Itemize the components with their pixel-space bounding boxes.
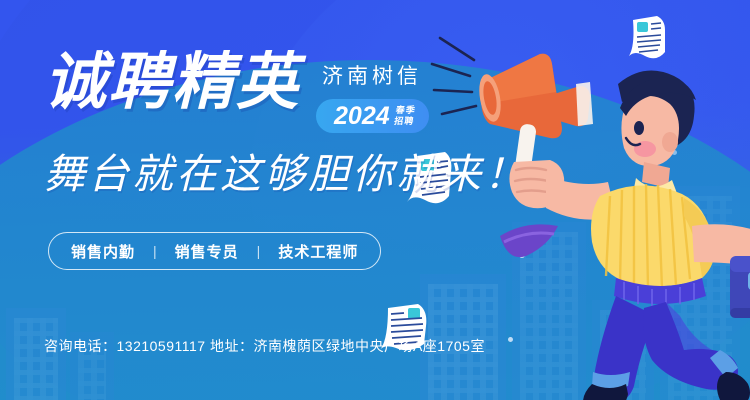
position-separator: |	[153, 243, 157, 259]
company-name: 济南树信	[316, 60, 429, 90]
tagline: 舞台就在这够胆你就来！	[44, 152, 528, 197]
badge-line-1: 春季	[395, 105, 417, 116]
positions-pill: 销售内勤 | 销售专员 | 技术工程师	[48, 232, 381, 270]
badge-year: 2024	[334, 102, 390, 131]
legs	[592, 296, 738, 400]
resume-document-icon	[625, 12, 671, 64]
brand-block: 济南树信 2024 春季 招聘	[316, 52, 429, 133]
position-item-0: 销售内勤	[71, 241, 135, 262]
position-item-2: 技术工程师	[278, 241, 358, 262]
position-item-1: 销售专员	[175, 241, 239, 262]
headline-row: 诚聘精英 济南树信 2024 春季 招聘	[44, 52, 429, 133]
badge-season-stack: 春季 招聘	[393, 105, 416, 127]
contact-info: 咨询电话：13210591117 地址：济南槐荫区绿地中央广场A座1705室	[44, 336, 485, 356]
position-separator: |	[257, 243, 261, 259]
text-content: 诚聘精英 济南树信 2024 春季 招聘 舞台就在这够胆你就来！ 销售内勤 | …	[0, 0, 560, 400]
recruitment-banner: 诚聘精英 济南树信 2024 春季 招聘 舞台就在这够胆你就来！ 销售内勤 | …	[0, 0, 750, 400]
season-badge: 2024 春季 招聘	[316, 99, 429, 133]
page-title: 诚聘精英	[44, 52, 300, 114]
badge-line-2: 招聘	[393, 116, 415, 127]
